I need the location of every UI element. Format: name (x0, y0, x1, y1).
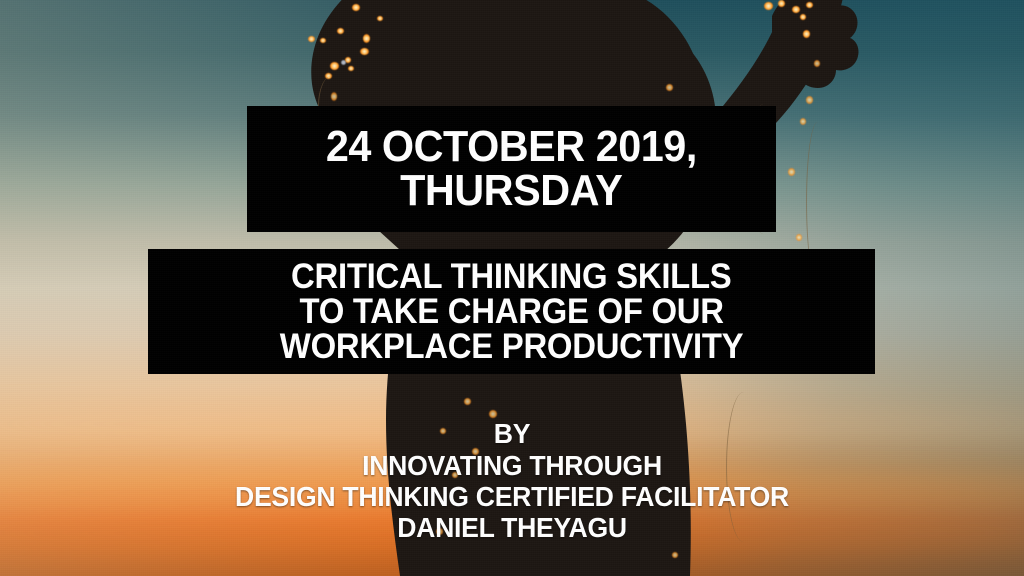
fairy-light (800, 118, 806, 125)
fairy-light (330, 62, 339, 70)
fairy-light (764, 2, 773, 10)
fairy-light (788, 168, 795, 176)
date-banner: 24 OCTOBER 2019, THURSDAY (247, 106, 776, 232)
fairy-light (666, 84, 673, 91)
fairy-light (803, 30, 810, 38)
credit-by-label: BY (26, 420, 999, 448)
title-line-3: WORKPLACE PRODUCTIVITY (280, 329, 744, 364)
presenter-credit: BY INNOVATING THROUGH DESIGN THINKING CE… (0, 420, 1024, 542)
event-announcement-slide: 24 OCTOBER 2019, THURSDAY CRITICAL THINK… (0, 0, 1024, 576)
credit-presenter-name: DANIEL THEYAGU (26, 514, 999, 542)
fairy-light (806, 2, 813, 8)
date-line-1: 24 OCTOBER 2019, (326, 125, 697, 169)
fairy-light (341, 60, 346, 65)
fairy-light (464, 398, 471, 405)
fairy-light (337, 28, 344, 34)
credit-organization: INNOVATING THROUGH (26, 452, 999, 480)
fairy-light (800, 14, 806, 20)
fairy-light (796, 234, 802, 241)
fairy-light (806, 96, 813, 104)
fairy-light (360, 48, 369, 55)
fairy-light (308, 36, 315, 42)
fairy-light (489, 410, 497, 418)
title-banner: CRITICAL THINKING SKILLS TO TAKE CHARGE … (148, 249, 875, 374)
fairy-light (814, 60, 820, 67)
fairy-light (792, 6, 800, 13)
fairy-light (672, 552, 678, 558)
fairy-light (363, 34, 370, 43)
title-line-2: TO TAKE CHARGE OF OUR (299, 294, 723, 329)
fairy-light (352, 4, 360, 11)
title-line-1: CRITICAL THINKING SKILLS (291, 259, 731, 294)
fairy-light (377, 16, 383, 21)
date-line-2: THURSDAY (400, 169, 622, 213)
fairy-light (348, 66, 354, 71)
credit-role: DESIGN THINKING CERTIFIED FACILITATOR (26, 483, 999, 511)
fairy-light (778, 0, 785, 7)
fairy-light (320, 38, 326, 43)
